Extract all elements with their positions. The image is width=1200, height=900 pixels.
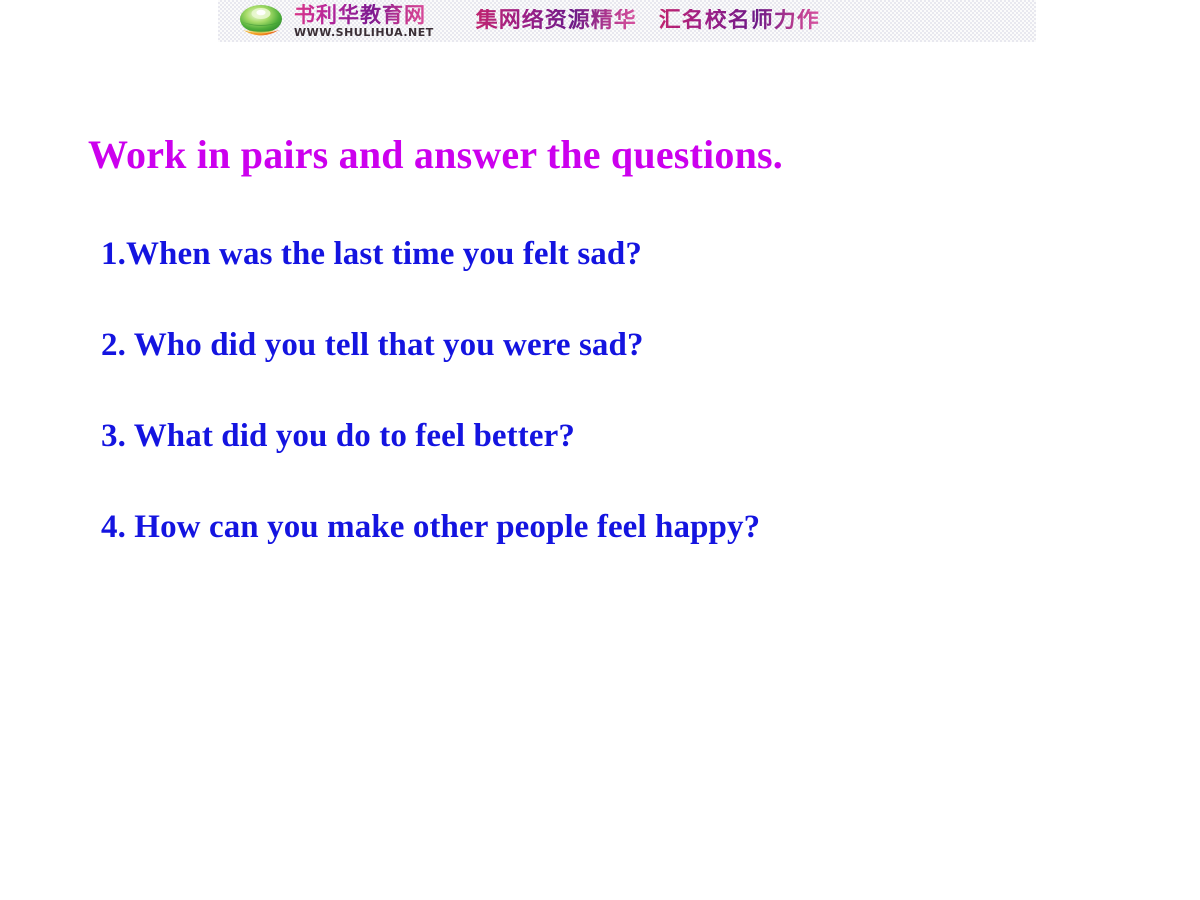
slogan-right: 汇名校名师力作 xyxy=(659,9,820,33)
brand-block: 书利华教育网 WWW.SHULIHUA.NET xyxy=(294,4,434,39)
brand-name-cn: 书利华教育网 xyxy=(294,4,434,26)
page-title: Work in pairs and answer the questions. xyxy=(88,131,783,178)
list-item: 3. What did you do to feel better? xyxy=(101,414,1101,505)
question-list: 1.When was the last time you felt sad? 2… xyxy=(101,232,1101,596)
list-item: 4. How can you make other people feel ha… xyxy=(101,505,1101,596)
site-watermark-banner: 书利华教育网 WWW.SHULIHUA.NET 集网络资源精华 汇名校名师力作 xyxy=(218,0,1036,42)
globe-leaf-logo-icon xyxy=(232,3,290,39)
slogan-left: 集网络资源精华 xyxy=(476,9,637,33)
brand-website-url: WWW.SHULIHUA.NET xyxy=(294,26,434,39)
list-item: 2. Who did you tell that you were sad? xyxy=(101,323,1101,414)
list-item: 1.When was the last time you felt sad? xyxy=(101,232,1101,323)
